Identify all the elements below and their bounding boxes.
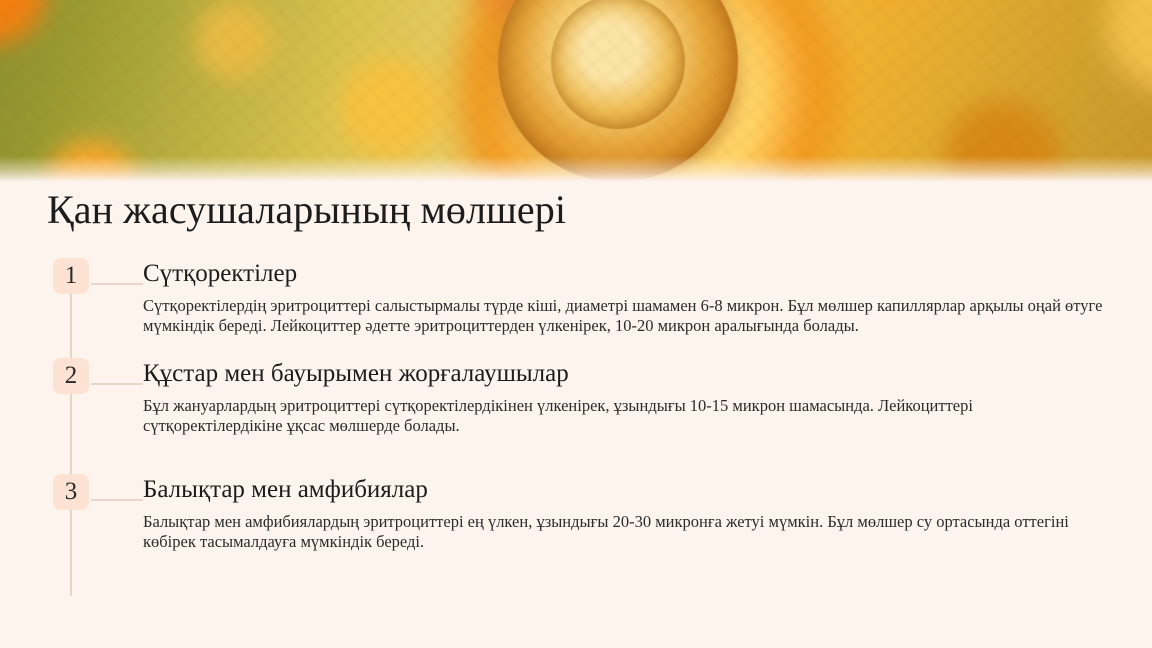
list-item: 3 Балықтар мен амфибиялар Балықтар мен а…	[47, 474, 1112, 552]
header-banner-image	[0, 0, 1152, 182]
list-item-heading: Сүтқоректілер	[143, 258, 1112, 289]
list-item-text: Сүтқоректілердің эритроциттері салыстырм…	[143, 296, 1112, 336]
step-number-badge: 1	[53, 258, 89, 294]
list-item-marker: 2	[47, 358, 143, 400]
list-item-body: Балықтар мен амфибиялар Балықтар мен амф…	[143, 474, 1112, 552]
numbered-list: 1 Сүтқоректілер Сүтқоректілердің эритроц…	[47, 258, 1112, 552]
banner-bottom-fade	[0, 156, 1152, 182]
list-item-text: Бұл жануарлардың эритроциттері сүтқорект…	[143, 396, 1112, 436]
page-title: Қан жасушаларының мөлшері	[47, 185, 566, 235]
step-number-badge: 2	[53, 358, 89, 394]
list-item-text: Балықтар мен амфибиялардың эритроциттері…	[143, 512, 1073, 552]
step-number-badge: 3	[53, 474, 89, 510]
list-item-body: Сүтқоректілер Сүтқоректілердің эритроцит…	[143, 258, 1112, 336]
banner-texture-overlay	[0, 0, 1152, 182]
list-item-marker: 1	[47, 258, 143, 300]
list-item-marker: 3	[47, 474, 143, 516]
list-item: 2 Құстар мен бауырымен жорғалаушылар Бұл…	[47, 358, 1112, 436]
marker-connector-line	[91, 383, 143, 385]
marker-connector-line	[91, 499, 143, 501]
list-item: 1 Сүтқоректілер Сүтқоректілердің эритроц…	[47, 258, 1112, 336]
list-item-heading: Балықтар мен амфибиялар	[143, 474, 1112, 505]
list-item-heading: Құстар мен бауырымен жорғалаушылар	[143, 358, 1112, 389]
slide: Қан жасушаларының мөлшері 1 Сүтқоректіле…	[0, 0, 1152, 648]
list-item-body: Құстар мен бауырымен жорғалаушылар Бұл ж…	[143, 358, 1112, 436]
marker-connector-line	[91, 283, 143, 285]
